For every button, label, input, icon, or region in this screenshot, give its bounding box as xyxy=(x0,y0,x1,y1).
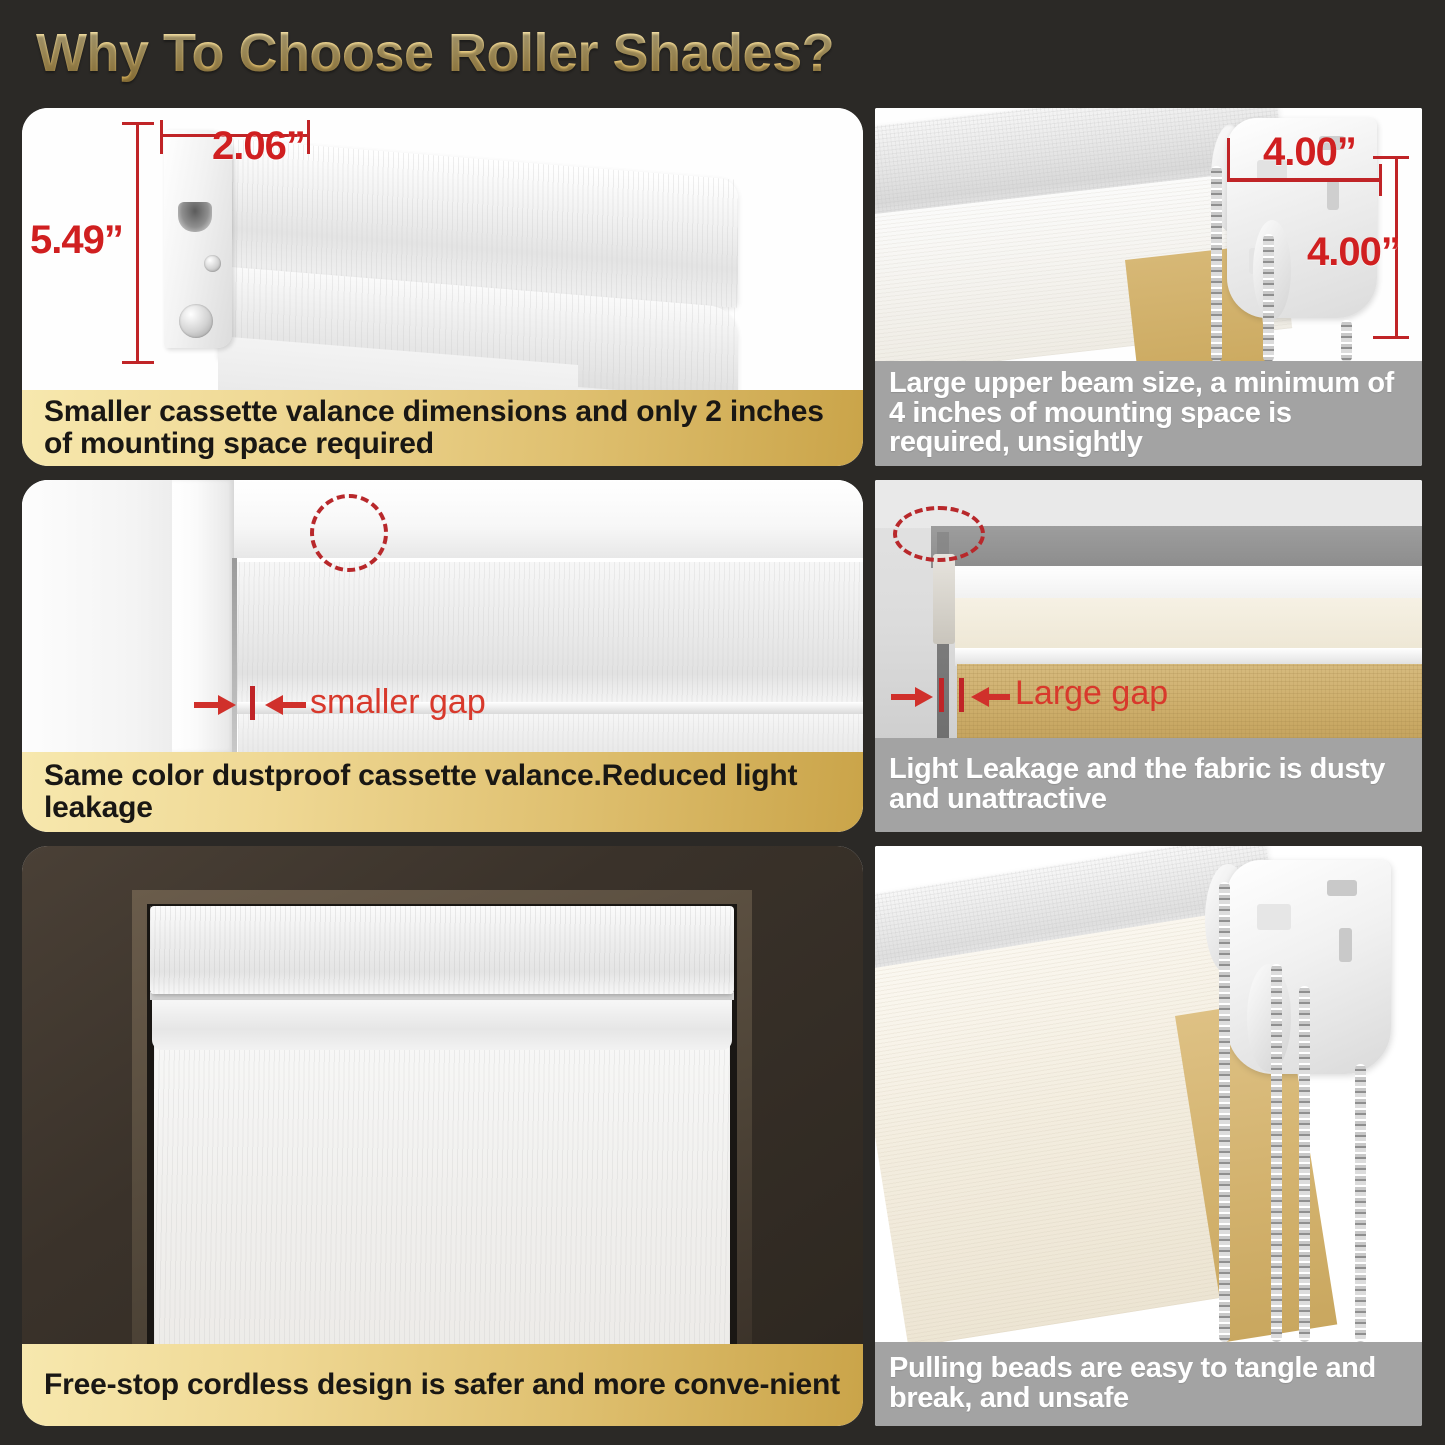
side-gap xyxy=(232,558,237,752)
bracket-slot-side xyxy=(1339,928,1352,962)
bracket-notch-side xyxy=(1327,180,1339,210)
cassette-valance xyxy=(234,562,863,702)
bead-chain-tail xyxy=(1355,1064,1366,1342)
infographic-page: Why To Choose Roller Shades? 2.06” xyxy=(0,0,1445,1445)
upper-beam-shadow xyxy=(931,526,1422,568)
mounting-clip xyxy=(933,554,955,644)
dimension-label-beam-height: 4.00” xyxy=(1307,230,1400,275)
dimension-label-width: 2.06” xyxy=(212,124,305,169)
caption-large-upper-beam: Large upper beam size, a minimum of 4 in… xyxy=(875,361,1422,466)
caption-text: Large upper beam size, a minimum of 4 in… xyxy=(875,369,1422,458)
wall-surface xyxy=(22,480,182,752)
gap-arrow-right-head xyxy=(971,687,989,707)
panel-large-upper-beam: 4.00” 4.00” Large upper beam size, a min… xyxy=(875,108,1422,466)
dim-width-tick-right xyxy=(307,120,310,154)
photo-pulling-beads xyxy=(875,846,1422,1342)
roller-shade-fabric xyxy=(154,1046,730,1344)
gap-arrow-left-head xyxy=(915,687,933,707)
caption-text: Smaller cassette valance dimensions and … xyxy=(22,396,863,460)
beam-dim-height-tick-top xyxy=(1373,156,1409,159)
panel-free-stop-cordless: Free-stop cordless design is safer and m… xyxy=(22,846,863,1426)
bead-chain-rear xyxy=(1263,234,1274,361)
caption-light-leakage: Light Leakage and the fabric is dusty an… xyxy=(875,738,1422,832)
caption-text: Same color dustproof cassette valance.Re… xyxy=(22,760,863,824)
caption-text: Light Leakage and the fabric is dusty an… xyxy=(875,755,1422,814)
gap-arrow-right-head xyxy=(265,695,283,715)
beam-dim-width-tick-left xyxy=(1227,138,1230,180)
caption-cassette-valance-dimensions: Smaller cassette valance dimensions and … xyxy=(22,390,863,466)
caption-text: Pulling beads are easy to tangle and bre… xyxy=(875,1354,1422,1413)
bead-chain-front xyxy=(1211,166,1222,361)
panel-dustproof-cassette-valance: smaller gap Same color dustproof cassett… xyxy=(22,480,863,832)
beam-dim-width-tick-right xyxy=(1379,164,1382,196)
gap-arrow-left-head xyxy=(218,695,236,715)
highlight-circle-icon xyxy=(310,494,388,572)
panel-light-leakage: Large gap Light Leakage and the fabric i… xyxy=(875,480,1422,832)
window-head-trim xyxy=(172,480,863,558)
bracket-screw-lower xyxy=(179,304,213,338)
gap-marker-bar-left xyxy=(939,678,944,712)
photo-cassette-valance: 2.06” 5.49” xyxy=(22,108,863,390)
gap-callout-label: smaller gap xyxy=(310,683,486,722)
cassette-headrail xyxy=(150,906,734,994)
gap-marker-bar-right xyxy=(959,678,964,712)
bead-chain-front xyxy=(1219,882,1230,1342)
photo-light-leakage: Large gap xyxy=(875,480,1422,738)
comparison-row-3: Free-stop cordless design is safer and m… xyxy=(0,846,1445,1426)
comparison-grid: 2.06” 5.49” Smaller cassette valance dim… xyxy=(0,108,1445,480)
dimension-label-height: 5.49” xyxy=(30,218,123,263)
gap-callout-label: Large gap xyxy=(1015,674,1168,713)
dim-width-tick-left xyxy=(160,120,163,154)
panel-cassette-valance-dimensions: 2.06” 5.49” Smaller cassette valance dim… xyxy=(22,108,863,466)
bead-chain-tail xyxy=(1341,320,1352,361)
caption-text: Free-stop cordless design is safer and m… xyxy=(22,1369,860,1401)
bead-chain-middle xyxy=(1271,964,1282,1342)
dimension-label-beam-width: 4.00” xyxy=(1263,130,1356,175)
bracket-emboss-upper xyxy=(1257,904,1291,930)
bracket-slot-top xyxy=(1327,880,1357,896)
gap-marker-bar xyxy=(250,686,255,720)
valance-lower-roll xyxy=(152,998,732,1050)
gap-arrow-left-stem xyxy=(891,694,917,700)
comparison-row-2: smaller gap Same color dustproof cassett… xyxy=(0,480,1445,846)
photo-large-upper-beam: 4.00” 4.00” xyxy=(875,108,1422,361)
gap-arrow-right-stem xyxy=(988,694,1010,700)
dim-height-tick-bottom xyxy=(122,361,154,364)
comparison-row-1: 2.06” 5.49” Smaller cassette valance dim… xyxy=(0,108,1445,480)
dim-height-line xyxy=(136,122,139,364)
bead-chain-inner xyxy=(1299,986,1310,1342)
page-title: Why To Choose Roller Shades? xyxy=(36,22,834,84)
dim-height-tick-top xyxy=(122,122,154,125)
caption-dustproof-cassette-valance: Same color dustproof cassette valance.Re… xyxy=(22,752,863,832)
bracket-screw-upper xyxy=(204,255,221,272)
photo-free-stop-cordless xyxy=(22,846,863,1344)
beam-dim-height-tick-bottom xyxy=(1373,336,1409,339)
panel-pulling-beads: Pulling beads are easy to tangle and bre… xyxy=(875,846,1422,1426)
photo-dustproof-cassette: smaller gap xyxy=(22,480,863,752)
caption-free-stop-cordless: Free-stop cordless design is safer and m… xyxy=(22,1344,863,1426)
caption-pulling-beads: Pulling beads are easy to tangle and bre… xyxy=(875,1342,1422,1426)
roller-end-cap-lower xyxy=(1247,964,1291,1072)
highlight-circle-icon xyxy=(893,506,985,562)
gap-arrow-right-stem xyxy=(282,702,306,708)
beam-dim-width-line xyxy=(1227,178,1381,182)
gap-arrow-left-stem xyxy=(194,702,220,708)
